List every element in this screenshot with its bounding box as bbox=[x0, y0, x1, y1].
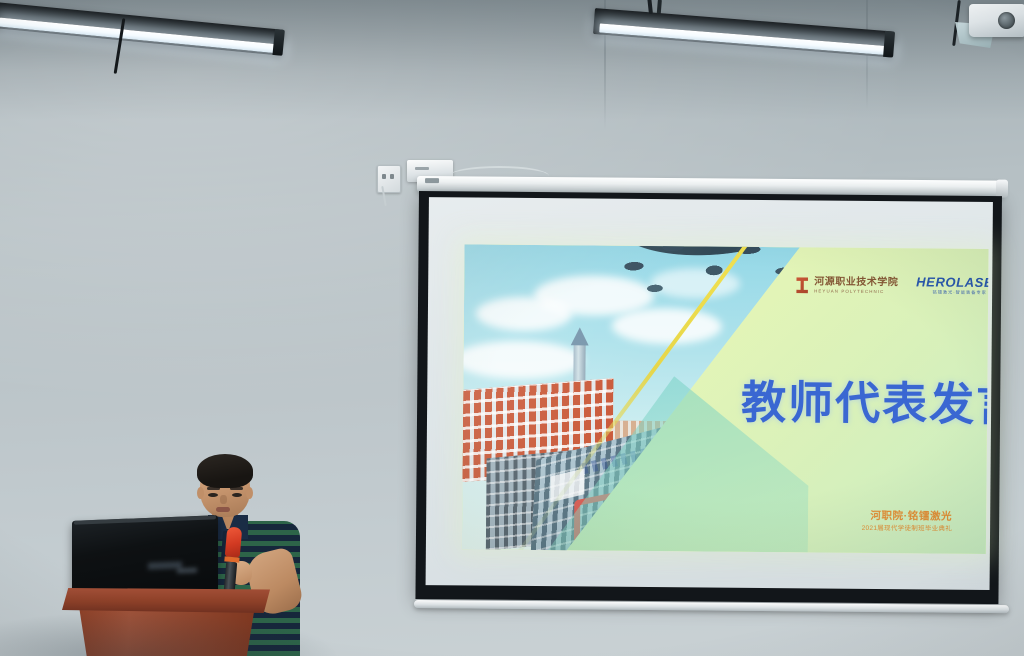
presenter-nose bbox=[220, 495, 227, 504]
presenter-ear bbox=[246, 487, 253, 499]
slide-title: 教师代表发言 bbox=[741, 366, 989, 433]
slide-footer-main: 河职院·铭镭激光 bbox=[862, 510, 953, 524]
school-name-en: HEYUAN POLYTECHNIC bbox=[814, 289, 898, 294]
herolaser-tagline: 铭镭激光·智能装备专家 bbox=[932, 290, 986, 295]
outlet-socket-hole bbox=[382, 174, 386, 179]
podium-monitor[interactable]: Podium Computer Monitor bbox=[72, 518, 218, 596]
herolaser-logo: HEROLASER 铭镭激光·智能装备专家 bbox=[916, 275, 988, 295]
roller-end-cap bbox=[996, 180, 1008, 198]
wall-outlet[interactable]: Wall Power Outlet bbox=[377, 165, 401, 193]
ceiling-projector: Ceiling Projector bbox=[955, 0, 1024, 52]
school-name-cn: 河源职业技术学院 bbox=[814, 277, 898, 288]
presenter-eye bbox=[232, 493, 242, 497]
projector-lens-icon bbox=[998, 12, 1015, 29]
projection-screen-frame: Campus Buildings Photo Collage 河源职业技术学院 … bbox=[415, 191, 1002, 604]
presenter-mouth bbox=[216, 507, 230, 512]
slide-footer: 河职院·铭镭激光 2021届现代学徒制班毕业典礼 bbox=[862, 510, 953, 534]
floor-shadow bbox=[0, 610, 340, 656]
presenter-eye bbox=[208, 493, 218, 497]
microphone-head bbox=[225, 526, 243, 557]
slide-footer-sub: 2021届现代学徒制班毕业典礼 bbox=[862, 525, 953, 534]
slide-logo-row: 河源职业技术学院 HEYUAN POLYTECHNIC HEROLASER 铭镭… bbox=[794, 274, 988, 295]
presenter-hair bbox=[197, 454, 253, 488]
roller-bracket bbox=[425, 178, 439, 183]
classroom-scene: Fluorescent Light Fixture Left Fluoresce… bbox=[0, 0, 1024, 656]
projector-body bbox=[969, 4, 1024, 37]
monitor-reflection bbox=[177, 568, 197, 574]
school-crest-icon bbox=[794, 277, 810, 293]
herolaser-wordmark: HEROLASER bbox=[916, 275, 988, 289]
heyuan-polytechnic-logo: 河源职业技术学院 HEYUAN POLYTECHNIC bbox=[794, 277, 898, 294]
presenter-ear bbox=[197, 487, 204, 499]
monitor-screen[interactable] bbox=[72, 515, 218, 599]
outlet-socket-hole bbox=[390, 174, 394, 179]
projection-screen-surface: Campus Buildings Photo Collage 河源职业技术学院 … bbox=[426, 197, 993, 590]
projected-slide: Campus Buildings Photo Collage 河源职业技术学院 … bbox=[462, 244, 989, 554]
light-end-cap bbox=[883, 31, 895, 58]
